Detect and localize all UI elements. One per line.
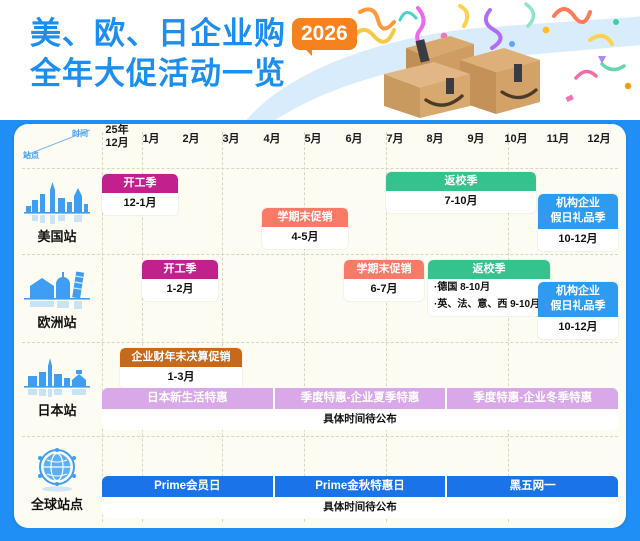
row-label-text: 欧洲站 — [18, 312, 96, 331]
band-segments: Prime会员日 Prime金秋特惠日 黑五网一 — [102, 476, 618, 497]
row-label-us: 美国站 — [18, 178, 96, 245]
band-note: 具体时间待公布 — [102, 409, 618, 430]
event-title: 学期末促销 — [344, 260, 424, 279]
event-period: 7-10月 — [386, 191, 536, 213]
title-line-1: 美、欧、日企业购 — [30, 16, 286, 52]
row-label-jp: 日本站 — [18, 352, 96, 419]
bottom-strip — [0, 528, 640, 541]
title-line-2: 全年大促活动一览 — [30, 56, 357, 92]
row-label-eu: 欧洲站 — [18, 264, 96, 331]
grid-line-h — [22, 342, 618, 343]
eu-landmark-icon — [24, 264, 90, 310]
event-eu-end-of-term[interactable]: 学期末促销 6-7月 — [344, 260, 424, 301]
event-eu-back-to-school[interactable]: 返校季 ·德国 8-10月 ·英、法、意、西 9-10月 — [428, 260, 550, 316]
band-note: 具体时间待公布 — [102, 497, 618, 518]
event-us-end-of-term[interactable]: 学期末促销 4-5月 — [262, 208, 348, 249]
band-global-prime[interactable]: Prime会员日 Prime金秋特惠日 黑五网一 具体时间待公布 — [102, 476, 618, 518]
event-period: 1-3月 — [120, 367, 242, 389]
year-badge: 2026 — [292, 18, 357, 50]
event-detail-line-2: ·英、法、意、西 9-10月 — [428, 298, 550, 316]
event-title: 返校季 — [386, 172, 536, 191]
promo-calendar-table: 时间 站点 25年 12月 1月 2月 3月 4月 5月 6月 7月 8月 9月… — [14, 124, 626, 528]
band-segment-2[interactable]: Prime金秋特惠日 — [275, 476, 448, 497]
event-title: 开工季 — [142, 260, 218, 279]
event-detail-line-1: ·德国 8-10月 — [428, 279, 550, 298]
band-segment-2[interactable]: 季度特惠-企业夏季特惠 — [275, 388, 448, 409]
grid-line-v — [222, 132, 223, 522]
row-label-text: 日本站 — [18, 400, 96, 419]
month-header-6: 6月 — [333, 130, 375, 146]
grid-line-h — [22, 436, 618, 437]
event-jp-fiscal-year-end[interactable]: 企业财年末决算促销 1-3月 — [120, 348, 242, 389]
band-segment-3[interactable]: 季度特惠-企业冬季特惠 — [447, 388, 618, 409]
grid-line-v — [304, 132, 305, 522]
band-segment-1[interactable]: 日本新生活特惠 — [102, 388, 275, 409]
band-jp-quarterly[interactable]: 日本新生活特惠 季度特惠-企业夏季特惠 季度特惠-企业冬季特惠 具体时间待公布 — [102, 388, 618, 430]
event-period: 4-5月 — [262, 227, 348, 249]
month-header-3: 3月 — [210, 130, 252, 146]
globe-icon — [27, 444, 87, 492]
band-segment-1[interactable]: Prime会员日 — [102, 476, 275, 497]
event-period: 12-1月 — [102, 193, 178, 215]
month-header-7: 7月 — [374, 130, 416, 146]
event-period: 10-12月 — [538, 229, 618, 251]
event-title: 机构企业 假日礼品季 — [538, 282, 618, 317]
month-header-10: 10月 — [494, 130, 538, 146]
event-title: 机构企业 假日礼品季 — [538, 194, 618, 229]
time-axis-label: 时间 — [72, 128, 88, 139]
row-label-global: 全球站点 — [18, 444, 96, 513]
grid-line-h — [22, 168, 618, 169]
event-us-holiday-gift[interactable]: 机构企业 假日礼品季 10-12月 — [538, 194, 618, 251]
month-header-11: 11月 — [536, 130, 580, 146]
month-header-5: 5月 — [292, 130, 334, 146]
grid-line-h — [22, 254, 618, 255]
row-label-text: 美国站 — [18, 226, 96, 245]
site-axis-label: 站点 — [23, 150, 39, 161]
event-period: 1-2月 — [142, 279, 218, 301]
us-skyline-icon — [24, 178, 90, 224]
title-block: 美、欧、日企业购 2026 全年大促活动一览 — [30, 16, 357, 92]
month-header-1: 1月 — [130, 130, 172, 146]
event-eu-kaigongji[interactable]: 开工季 1-2月 — [142, 260, 218, 301]
month-header-4: 4月 — [251, 130, 293, 146]
event-period: 10-12月 — [538, 317, 618, 339]
event-period: 6-7月 — [344, 279, 424, 301]
jp-skyline-icon — [24, 352, 90, 398]
band-segments: 日本新生活特惠 季度特惠-企业夏季特惠 季度特惠-企业冬季特惠 — [102, 388, 618, 409]
band-segment-3[interactable]: 黑五网一 — [447, 476, 618, 497]
month-header-9: 9月 — [455, 130, 497, 146]
header-banner: 美、欧、日企业购 2026 全年大促活动一览 — [0, 0, 640, 120]
event-title: 企业财年末决算促销 — [120, 348, 242, 367]
event-title: 开工季 — [102, 174, 178, 193]
event-eu-holiday-gift[interactable]: 机构企业 假日礼品季 10-12月 — [538, 282, 618, 339]
event-us-back-to-school[interactable]: 返校季 7-10月 — [386, 172, 536, 213]
row-label-text: 全球站点 — [18, 494, 96, 513]
month-header-12: 12月 — [577, 130, 621, 146]
corner-header-cell: 时间 站点 — [20, 126, 94, 162]
event-title: 返校季 — [428, 260, 550, 279]
month-header-2: 2月 — [170, 130, 212, 146]
event-title: 学期末促销 — [262, 208, 348, 227]
month-header-8: 8月 — [414, 130, 456, 146]
event-us-kaigongji[interactable]: 开工季 12-1月 — [102, 174, 178, 215]
amazon-boxes-icon — [364, 18, 544, 118]
